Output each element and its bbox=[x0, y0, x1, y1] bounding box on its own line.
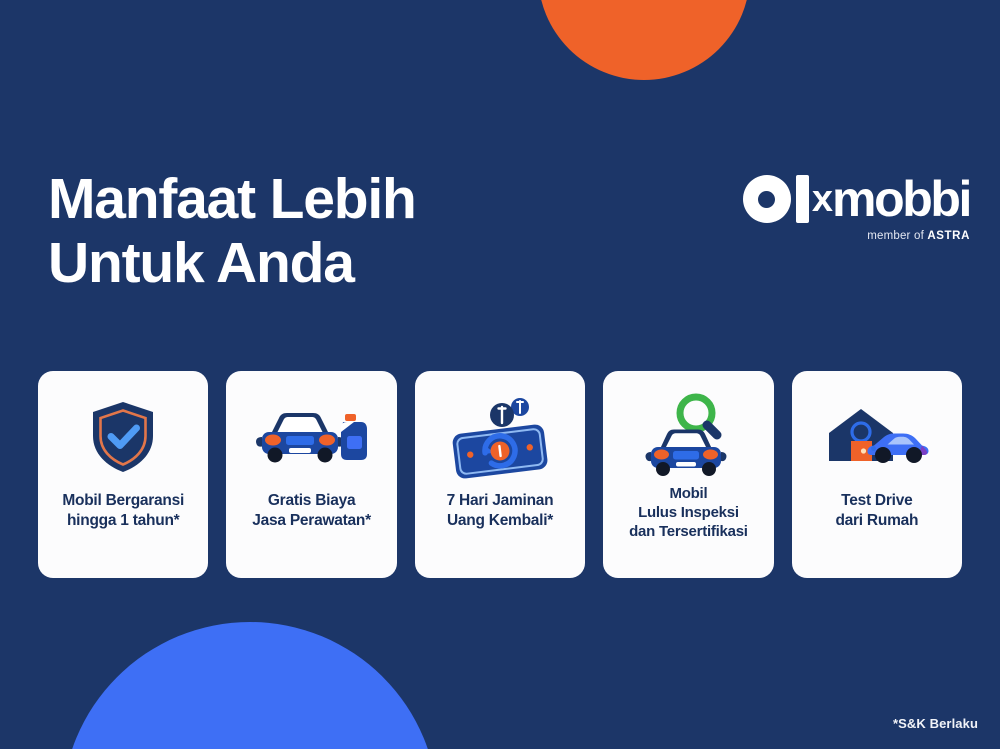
logo-letter-l-icon bbox=[796, 175, 809, 223]
benefit-card-label: 7 Hari Jaminan Uang Kembali* bbox=[447, 491, 554, 531]
logo-letter-o-icon bbox=[743, 175, 791, 223]
benefit-card-home-test-drive[interactable]: Test Drive dari Rumah bbox=[792, 371, 962, 578]
benefit-card-inspection[interactable]: Mobil Lulus Inspeksi dan Tersertifikasi bbox=[603, 371, 773, 578]
member-of-text: member of bbox=[867, 230, 927, 242]
astra-text: ASTRA bbox=[927, 230, 970, 242]
decorative-blue-circle bbox=[62, 622, 438, 749]
logo-tagline: member of ASTRA bbox=[702, 230, 970, 242]
logo-mark: x mobbi bbox=[702, 172, 970, 226]
page-title: Manfaat Lebih Untuk Anda bbox=[48, 168, 416, 296]
terms-footnote: *S&K Berlaku bbox=[893, 716, 978, 731]
benefit-card-label: Test Drive dari Rumah bbox=[835, 491, 918, 531]
brand-logo: x mobbi member of ASTRA bbox=[702, 172, 970, 242]
shield-check-icon bbox=[46, 385, 200, 489]
poster-canvas: Manfaat Lebih Untuk Anda x mobbi member … bbox=[0, 0, 1000, 749]
benefit-card-label: Mobil Lulus Inspeksi dan Tersertifikasi bbox=[629, 485, 748, 541]
car-inspection-icon bbox=[611, 385, 765, 489]
money-back-icon bbox=[423, 385, 577, 489]
home-test-drive-icon bbox=[800, 385, 954, 489]
benefit-card-free-service[interactable]: Gratis Biaya Jasa Perawatan* bbox=[226, 371, 396, 578]
benefit-card-money-back[interactable]: 7 Hari Jaminan Uang Kembali* bbox=[415, 371, 585, 578]
benefit-card-row: Mobil Bergaransi hingga 1 tahun* bbox=[38, 371, 962, 578]
decorative-orange-circle bbox=[538, 0, 750, 80]
benefit-card-label: Mobil Bergaransi hingga 1 tahun* bbox=[62, 491, 184, 531]
benefit-card-label: Gratis Biaya Jasa Perawatan* bbox=[252, 491, 371, 531]
benefit-card-warranty[interactable]: Mobil Bergaransi hingga 1 tahun* bbox=[38, 371, 208, 578]
logo-letter-x: x bbox=[812, 180, 831, 218]
logo-wordmark: mobbi bbox=[832, 174, 970, 224]
car-oil-can-icon bbox=[234, 385, 388, 489]
